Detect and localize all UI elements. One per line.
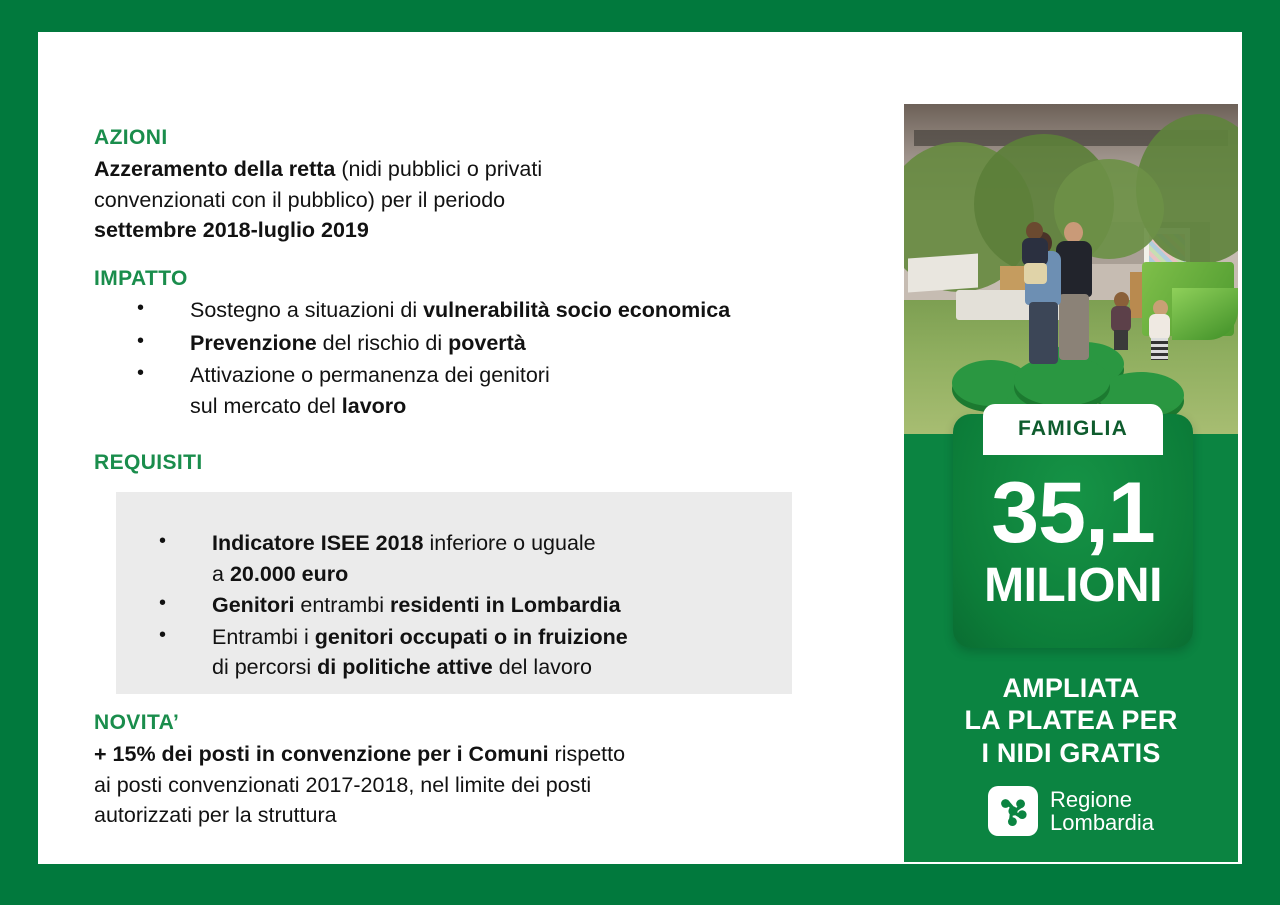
section-azioni: AZIONI Azzeramento della retta (nidi pub… bbox=[94, 126, 814, 246]
logo-line-1: Regione bbox=[1050, 787, 1132, 812]
azioni-body: Azzeramento della retta (nidi pubblici o… bbox=[94, 154, 814, 246]
poster-root: AZIONI Azzeramento della retta (nidi pub… bbox=[0, 0, 1280, 905]
claim-line-2: LA PLATEA PER bbox=[964, 705, 1177, 735]
req-1-a: a bbox=[212, 562, 230, 586]
impatto-1-b: Prevenzione bbox=[190, 331, 317, 355]
req-1-b: 20.000 euro bbox=[230, 562, 348, 586]
list-item: Sostegno a situazioni di vulnerabilità s… bbox=[94, 295, 854, 326]
req-2-c: entrambi bbox=[294, 593, 390, 617]
photo-slide-ramp bbox=[1172, 288, 1238, 340]
stat-value: 35,1 bbox=[953, 474, 1193, 553]
impatto-3-a: sul mercato del bbox=[190, 394, 342, 418]
requisiti-box: Indicatore ISEE 2018 inferiore o uguale … bbox=[116, 492, 792, 694]
section-novita: NOVITA’ + 15% dei posti in convenzione p… bbox=[94, 711, 794, 831]
req-0-b: Indicatore ISEE 2018 bbox=[212, 531, 424, 555]
famiglia-tab: FAMIGLIA bbox=[983, 404, 1163, 454]
impatto-2-a: Attivazione o permanenza dei genitori bbox=[190, 363, 550, 387]
impatto-1-d: povertà bbox=[448, 331, 526, 355]
claim-line-1: AMPLIATA bbox=[1002, 673, 1139, 703]
req-3-b: genitori occupati o in fruizione bbox=[315, 625, 628, 649]
azioni-line1-rest: (nidi pubblici o privati bbox=[335, 157, 542, 181]
right-green-panel: FAMIGLIA 35,1 MILIONI AMPLIATA LA PLATEA… bbox=[904, 104, 1238, 862]
white-content-panel: AZIONI Azzeramento della retta (nidi pub… bbox=[38, 32, 1242, 864]
req-0-c: inferiore o uguale bbox=[424, 531, 596, 555]
azioni-line3-bold: settembre 2018-luglio 2019 bbox=[94, 218, 369, 242]
list-item: Attivazione o permanenza dei genitori su… bbox=[94, 360, 854, 421]
novita-line2: ai posti convenzionati 2017-2018, nel li… bbox=[94, 773, 591, 797]
stat-unit: MILIONI bbox=[953, 562, 1193, 610]
photo-child-right bbox=[1148, 300, 1172, 360]
section-impatto: IMPATTO Sostegno a situazioni di vulnera… bbox=[94, 267, 854, 423]
novita-body: + 15% dei posti in convenzione per i Com… bbox=[94, 739, 794, 831]
impatto-list: Sostegno a situazioni di vulnerabilità s… bbox=[94, 295, 854, 421]
novita-line1-bold: + 15% dei posti in convenzione per i Com… bbox=[94, 742, 549, 766]
photo-family-nursery bbox=[904, 104, 1238, 434]
req-3-a: Entrambi i bbox=[212, 625, 315, 649]
photo-child-left bbox=[1110, 292, 1132, 350]
claim-text: AMPLIATA LA PLATEA PER I NIDI GRATIS bbox=[904, 672, 1238, 769]
photo-toddler bbox=[1020, 222, 1050, 284]
azioni-line2: convenzionati con il pubblico) per il pe… bbox=[94, 188, 505, 212]
impatto-3-b: lavoro bbox=[342, 394, 407, 418]
impatto-0-a: Sostegno a situazioni di bbox=[190, 298, 423, 322]
novita-line3: autorizzati per la struttura bbox=[94, 803, 337, 827]
logo-wordmark: Regione Lombardia bbox=[1050, 788, 1154, 834]
req-2-b: Genitori bbox=[212, 593, 294, 617]
novita-line1-rest: rispetto bbox=[549, 742, 625, 766]
logo-line-2: Lombardia bbox=[1050, 810, 1154, 835]
claim-line-3: I NIDI GRATIS bbox=[981, 738, 1160, 768]
azioni-heading: AZIONI bbox=[94, 126, 814, 150]
impatto-heading: IMPATTO bbox=[94, 267, 854, 291]
photo-canopy bbox=[908, 254, 978, 293]
list-item: Prevenzione del rischio di povertà bbox=[94, 328, 854, 359]
novita-heading: NOVITA’ bbox=[94, 711, 794, 735]
azioni-line1-bold: Azzeramento della retta bbox=[94, 157, 335, 181]
requisiti-list: Indicatore ISEE 2018 inferiore o uguale … bbox=[116, 528, 792, 683]
req-4-c: del lavoro bbox=[493, 655, 592, 679]
section-requisiti: REQUISITI bbox=[94, 451, 794, 479]
impatto-0-b: vulnerabilità socio economica bbox=[423, 298, 730, 322]
req-4-b: di politiche attive bbox=[317, 655, 493, 679]
list-item: Indicatore ISEE 2018 inferiore o uguale … bbox=[116, 528, 792, 589]
list-item: Entrambi i genitori occupati o in fruizi… bbox=[116, 622, 792, 683]
famiglia-tab-rule bbox=[983, 452, 1163, 455]
impatto-1-c: del rischio di bbox=[317, 331, 448, 355]
photo-family-group bbox=[1012, 216, 1108, 366]
requisiti-heading: REQUISITI bbox=[94, 451, 794, 475]
req-4-a: di percorsi bbox=[212, 655, 317, 679]
rosa-camuna-icon bbox=[988, 786, 1038, 836]
req-2-d: residenti in Lombardia bbox=[390, 593, 621, 617]
regione-lombardia-logo: Regione Lombardia bbox=[904, 786, 1238, 836]
list-item: Genitori entrambi residenti in Lombardia bbox=[116, 590, 792, 621]
